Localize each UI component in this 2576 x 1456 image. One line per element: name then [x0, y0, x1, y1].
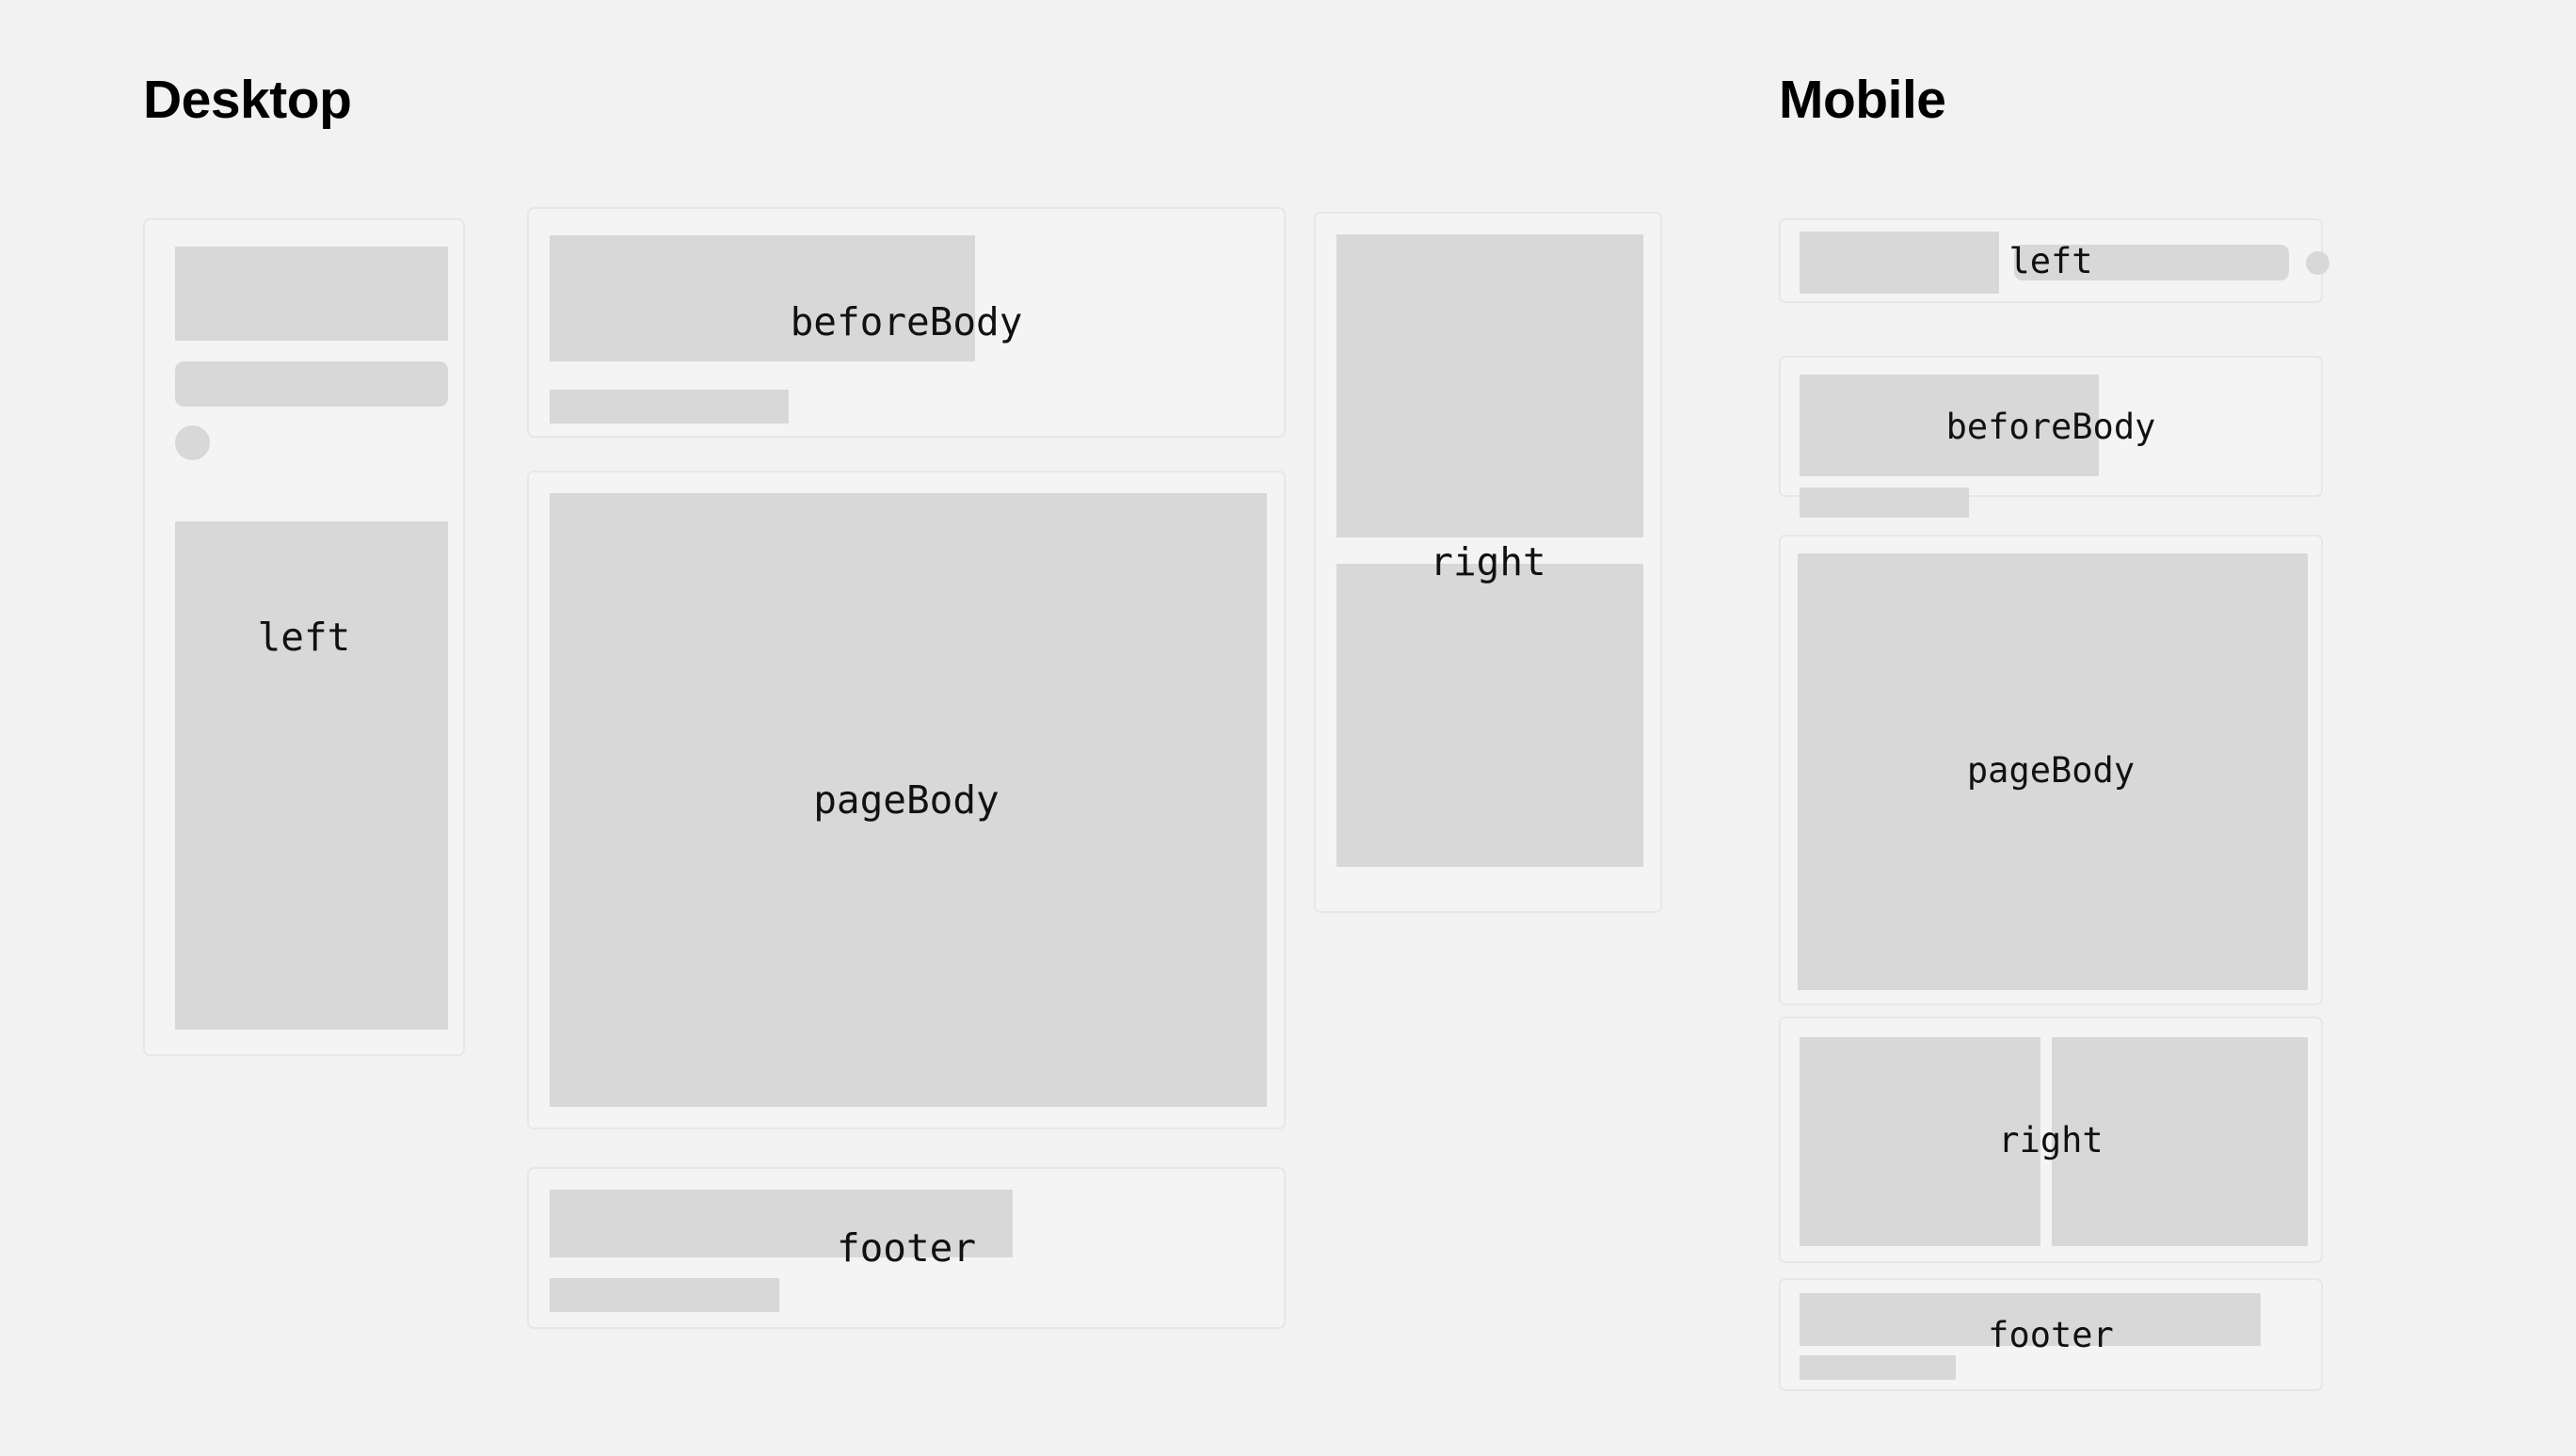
mobile-left-slot-panel[interactable]: [1779, 218, 2323, 303]
mobile-right-slot-panel[interactable]: [1779, 1016, 2323, 1263]
desktop-right-placeholder-block-1: [1336, 234, 1643, 537]
desktop-beforebody-slot-panel[interactable]: [527, 207, 1286, 438]
mobile-right-placeholder-block-2: [2052, 1037, 2308, 1246]
mobile-left-placeholder-bar: [2014, 245, 2289, 280]
mobile-section-title: Mobile: [1779, 73, 1946, 127]
mobile-footer-placeholder-bar: [1800, 1355, 1956, 1380]
desktop-left-slot-panel[interactable]: [143, 218, 465, 1056]
mobile-left-placeholder-block: [1800, 232, 1999, 294]
mobile-beforebody-placeholder-block: [1800, 375, 2099, 476]
desktop-footer-placeholder-block: [550, 1190, 1013, 1257]
desktop-section-title: Desktop: [143, 73, 351, 127]
desktop-pagebody-placeholder-block: [550, 493, 1267, 1107]
desktop-left-placeholder-bar: [175, 361, 448, 407]
desktop-right-slot-panel[interactable]: [1314, 212, 1662, 913]
desktop-footer-slot-panel[interactable]: [527, 1167, 1286, 1329]
desktop-right-placeholder-block-2: [1336, 564, 1643, 867]
desktop-left-placeholder-circle: [175, 425, 210, 460]
desktop-pagebody-slot-panel[interactable]: [527, 471, 1286, 1129]
mobile-pagebody-slot-panel[interactable]: [1779, 535, 2323, 1005]
mobile-right-placeholder-block-1: [1800, 1037, 2040, 1246]
mobile-footer-slot-panel[interactable]: [1779, 1278, 2323, 1391]
mobile-left-placeholder-circle: [2306, 251, 2329, 275]
mobile-beforebody-placeholder-bar: [1800, 488, 1969, 518]
mobile-footer-placeholder-block: [1800, 1293, 2261, 1346]
desktop-beforebody-placeholder-bar: [550, 390, 789, 424]
mobile-beforebody-slot-panel[interactable]: [1779, 356, 2323, 497]
desktop-beforebody-placeholder-block: [550, 235, 975, 361]
layout-preview-stage: Desktop left beforeBody pageBody right f…: [0, 0, 2576, 1456]
desktop-footer-placeholder-bar: [550, 1278, 779, 1312]
mobile-pagebody-placeholder-block: [1798, 553, 2308, 990]
desktop-left-placeholder-block-1: [175, 247, 448, 341]
desktop-left-placeholder-block-2: [175, 521, 448, 1030]
